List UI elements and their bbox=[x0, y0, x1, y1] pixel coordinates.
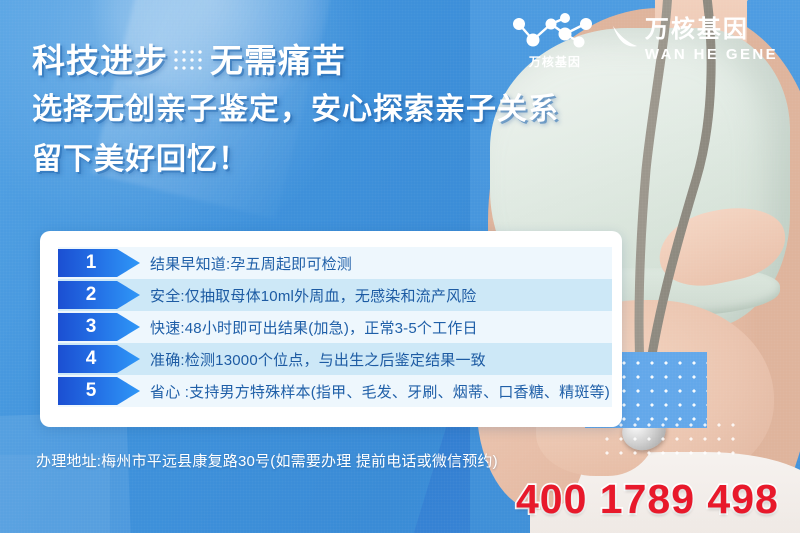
features-list: 1 结果早知道:孕五周起即可检测 2 安全:仅抽取母体10ml外周血，无感染和流… bbox=[40, 247, 622, 407]
features-card: 1 结果早知道:孕五周起即可检测 2 安全:仅抽取母体10ml外周血，无感染和流… bbox=[40, 231, 622, 427]
poster-root: 万核基因 万核基因 WAN HE GENE 科技进步 无需痛苦 选择无创亲子鉴定… bbox=[0, 0, 800, 533]
feature-text: 安全:仅抽取母体10ml外周血，无感染和流产风险 bbox=[150, 285, 476, 306]
headline: 科技进步 无需痛苦 选择无创亲子鉴定，安心探索亲子关系 留下美好回忆！ bbox=[32, 40, 559, 182]
list-item: 4 准确:检测13000个位点，与出生之后鉴定结果一致 bbox=[40, 343, 622, 375]
headline-line-1: 科技进步 无需痛苦 bbox=[32, 40, 559, 82]
list-item: 2 安全:仅抽取母体10ml外周血，无感染和流产风险 bbox=[40, 279, 622, 311]
headline-line-1-part-2: 无需痛苦 bbox=[210, 40, 346, 82]
feature-text: 准确:检测13000个位点，与出生之后鉴定结果一致 bbox=[150, 349, 486, 370]
logo-name-cn: 万核基因 bbox=[645, 18, 778, 42]
list-item: 5 省心 :支持男方特殊样本(指甲、毛发、牙刷、烟蒂、口香糖、精斑等) bbox=[40, 375, 622, 407]
dot-pattern-panel-2 bbox=[600, 418, 740, 458]
dot-grid-separator-icon bbox=[172, 48, 206, 74]
headline-line-1-part-1: 科技进步 bbox=[32, 40, 168, 82]
molecule-network-icon: 万核基因 bbox=[507, 10, 603, 70]
logo-mark-label: 万核基因 bbox=[507, 53, 603, 70]
feature-text: 快速:48小时即可出结果(加急)，正常3-5个工作日 bbox=[150, 317, 478, 338]
logo-name-en: WAN HE GENE bbox=[645, 47, 778, 62]
feature-text: 省心 :支持男方特殊样本(指甲、毛发、牙刷、烟蒂、口香糖、精斑等) bbox=[150, 381, 610, 402]
list-item: 1 结果早知道:孕五周起即可检测 bbox=[40, 247, 622, 279]
feature-text: 结果早知道:孕五周起即可检测 bbox=[150, 253, 352, 274]
hotline-phone-number[interactable]: 400 1789 498 bbox=[516, 476, 779, 523]
headline-line-2: 选择无创亲子鉴定，安心探索亲子关系 bbox=[32, 88, 559, 132]
brand-logo[interactable]: 万核基因 万核基因 WAN HE GENE bbox=[507, 10, 778, 70]
headline-line-3: 留下美好回忆！ bbox=[32, 138, 559, 182]
list-item: 3 快速:48小时即可出结果(加急)，正常3-5个工作日 bbox=[40, 311, 622, 343]
logo-wordmark: 万核基因 WAN HE GENE bbox=[645, 18, 778, 62]
office-address: 办理地址:梅州市平远县康复路30号(如需要办理 提前电话或微信预约) bbox=[36, 450, 498, 471]
logo-swoosh-icon bbox=[609, 18, 639, 62]
